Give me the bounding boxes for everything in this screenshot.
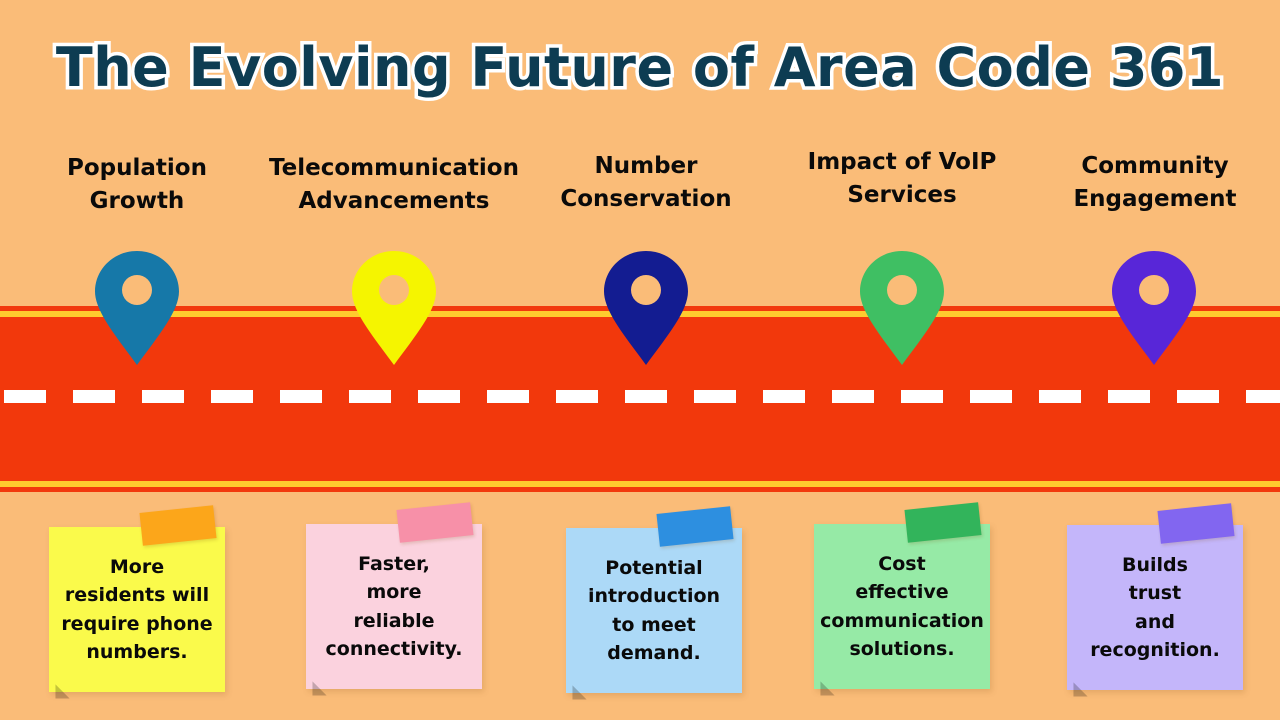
column-heading-4: Impact of VoIP Services bbox=[777, 146, 1027, 211]
road-dash bbox=[970, 390, 1012, 403]
road-dash bbox=[694, 390, 736, 403]
sticky-note-text: More residents will require phone number… bbox=[55, 553, 218, 665]
sticky-note-text: Faster, more reliable connectivity. bbox=[320, 550, 469, 662]
road-bottom-red-stripe bbox=[0, 487, 1280, 492]
note-corner-fold bbox=[305, 681, 326, 702]
road-dash bbox=[1108, 390, 1150, 403]
road-dash bbox=[4, 390, 46, 403]
page-title: The Evolving Future of Area Code 361 bbox=[0, 36, 1280, 99]
map-pin-telecommunication-advancements[interactable] bbox=[350, 249, 438, 367]
road-dash bbox=[901, 390, 943, 403]
road-dash bbox=[832, 390, 874, 403]
pin-shape bbox=[95, 251, 179, 365]
road-dash bbox=[349, 390, 391, 403]
pin-shape bbox=[604, 251, 688, 365]
heading-row: Population GrowthTelecommunication Advan… bbox=[0, 150, 1280, 250]
sticky-note-3[interactable]: Potential introduction to meet demand. bbox=[566, 528, 742, 693]
road-dash bbox=[280, 390, 322, 403]
column-heading-5: Community Engagement bbox=[1035, 150, 1275, 215]
column-heading-1: Population Growth bbox=[17, 152, 257, 217]
tape-strip bbox=[139, 505, 216, 546]
road-center-dashes bbox=[0, 390, 1280, 403]
road-dash bbox=[1039, 390, 1081, 403]
note-corner-fold bbox=[565, 685, 586, 706]
tape-strip bbox=[904, 502, 981, 543]
map-pin-impact-of-voip-services[interactable] bbox=[858, 249, 946, 367]
sticky-note-text: Builds trust and recognition. bbox=[1084, 551, 1226, 663]
sticky-note-text: Cost effective communication solutions. bbox=[814, 550, 990, 662]
road-dash bbox=[556, 390, 598, 403]
infographic-canvas: The Evolving Future of Area Code 361 Pop… bbox=[0, 0, 1280, 720]
map-pin-population-growth[interactable] bbox=[93, 249, 181, 367]
road-dash bbox=[1177, 390, 1219, 403]
pin-shape bbox=[352, 251, 436, 365]
note-corner-fold bbox=[813, 681, 834, 702]
sticky-note-4[interactable]: Cost effective communication solutions. bbox=[814, 524, 990, 689]
map-pin-community-engagement[interactable] bbox=[1110, 249, 1198, 367]
tape-strip bbox=[396, 502, 473, 543]
column-heading-2: Telecommunication Advancements bbox=[244, 152, 544, 217]
tape-strip bbox=[1157, 503, 1234, 544]
sticky-note-5[interactable]: Builds trust and recognition. bbox=[1067, 525, 1243, 690]
road-dash bbox=[1246, 390, 1280, 403]
road-dash bbox=[211, 390, 253, 403]
map-pin-number-conservation[interactable] bbox=[602, 249, 690, 367]
pin-shape bbox=[1112, 251, 1196, 365]
sticky-note-text: Potential introduction to meet demand. bbox=[582, 554, 726, 666]
sticky-note-2[interactable]: Faster, more reliable connectivity. bbox=[306, 524, 482, 689]
road-dash bbox=[487, 390, 529, 403]
road-dash bbox=[142, 390, 184, 403]
road-dash bbox=[418, 390, 460, 403]
road-dash bbox=[625, 390, 667, 403]
pin-shape bbox=[860, 251, 944, 365]
note-corner-fold bbox=[48, 684, 69, 705]
road-dash bbox=[73, 390, 115, 403]
column-heading-3: Number Conservation bbox=[526, 150, 766, 215]
road-dash bbox=[763, 390, 805, 403]
tape-strip bbox=[656, 506, 733, 547]
note-corner-fold bbox=[1066, 682, 1087, 703]
sticky-note-1[interactable]: More residents will require phone number… bbox=[49, 527, 225, 692]
